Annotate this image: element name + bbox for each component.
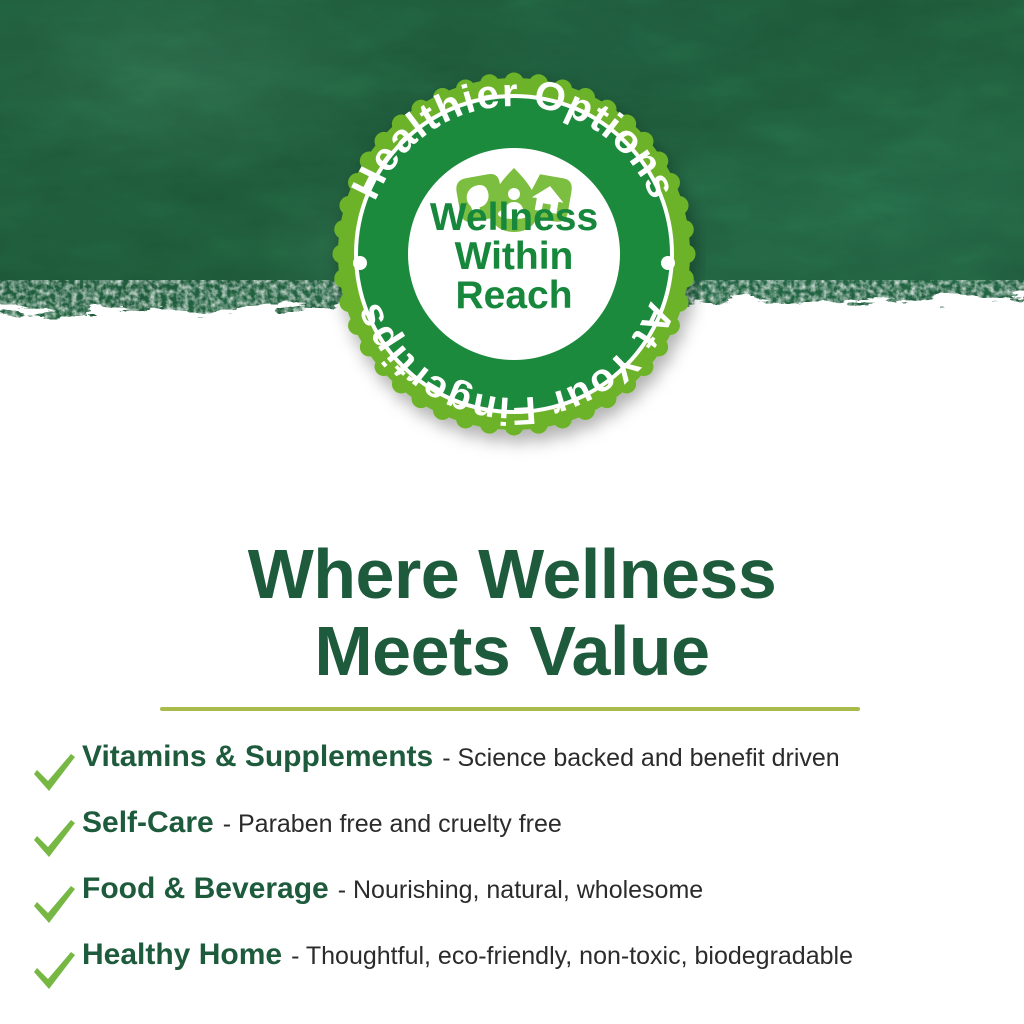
list-item: Food & Beverage - Nourishing, natural, w… — [0, 872, 1024, 938]
headline-line-2: Meets Value — [0, 613, 1024, 690]
check-icon — [28, 882, 82, 928]
feature-list: Vitamins & Supplements - Science backed … — [0, 740, 1024, 1004]
page-title: Where Wellness Meets Value — [0, 536, 1024, 690]
feature-title: Vitamins & Supplements — [82, 740, 433, 774]
divider — [160, 707, 860, 711]
check-icon — [28, 948, 82, 994]
seal-dot-left — [353, 256, 367, 270]
headline-line-1: Where Wellness — [0, 536, 1024, 613]
feature-description: - Science backed and benefit driven — [442, 744, 839, 773]
seal-center-line-2: Within — [455, 235, 574, 278]
feature-description: - Paraben free and cruelty free — [223, 810, 562, 839]
feature-title: Food & Beverage — [82, 872, 329, 906]
list-item: Vitamins & Supplements - Science backed … — [0, 740, 1024, 806]
feature-title: Self-Care — [82, 806, 214, 840]
check-icon — [28, 816, 82, 862]
feature-title: Healthy Home — [82, 938, 282, 972]
wellness-seal-badge: Healthier Options At Your Fingertips — [322, 58, 706, 462]
check-icon — [28, 750, 82, 796]
seal-center-line-1: Wellness — [430, 196, 598, 239]
seal-center-line-3: Reach — [455, 274, 572, 317]
feature-description: - Nourishing, natural, wholesome — [338, 876, 703, 905]
list-item: Healthy Home - Thoughtful, eco-friendly,… — [0, 938, 1024, 1004]
feature-description: - Thoughtful, eco-friendly, non-toxic, b… — [291, 942, 853, 971]
seal-dot-right — [661, 256, 675, 270]
list-item: Self-Care - Paraben free and cruelty fre… — [0, 806, 1024, 872]
